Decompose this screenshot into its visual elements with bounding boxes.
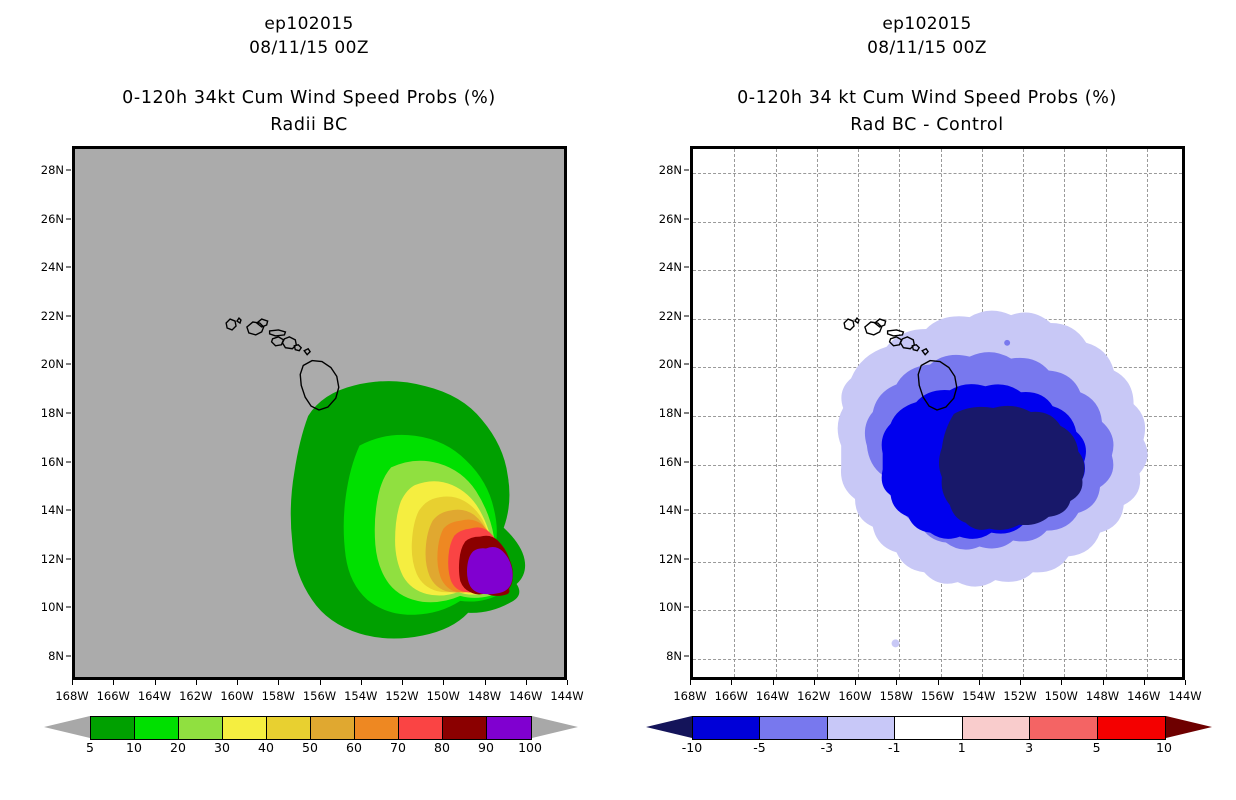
y-axis-tick xyxy=(66,218,71,219)
x-axis-tick xyxy=(485,680,486,685)
x-axis-tick-label: 146W xyxy=(509,689,542,703)
y-axis-tick-label: 8N xyxy=(648,649,682,663)
x-axis-tick-label: 166W xyxy=(97,689,130,703)
colorbar-low-cap xyxy=(646,716,692,738)
x-axis-tick-label: 166W xyxy=(715,689,748,703)
x-axis-tick-label: 144W xyxy=(1168,689,1201,703)
x-axis-tick-label: 164W xyxy=(756,689,789,703)
y-axis-tick xyxy=(66,364,71,365)
y-axis-tick-label: 12N xyxy=(648,552,682,566)
y-axis-tick-label: 28N xyxy=(30,163,64,177)
colorbar-segment xyxy=(693,717,760,739)
y-axis-tick-label: 20N xyxy=(648,357,682,371)
x-axis-tick xyxy=(1103,680,1104,685)
colorbar-probability: 5102030405060708090100 xyxy=(0,716,618,776)
x-axis-tick-label: 168W xyxy=(55,689,88,703)
colorbar-tick-label: 20 xyxy=(170,740,186,755)
colorbar-low-cap xyxy=(44,716,90,738)
x-axis-tick-label: 148W xyxy=(1086,689,1119,703)
y-axis-tick-label: 24N xyxy=(30,260,64,274)
x-axis-tick xyxy=(1144,680,1145,685)
x-axis-tick xyxy=(1185,680,1186,685)
y-axis-tick-label: 22N xyxy=(30,309,64,323)
y-axis-tick-label: 10N xyxy=(30,600,64,614)
y-axis-tick xyxy=(66,315,71,316)
x-axis-tick xyxy=(320,680,321,685)
panel-rad-bc-minus-control: ep102015 08/11/15 00Z 0-120h 34 kt Cum W… xyxy=(618,0,1236,800)
colorbar-segment xyxy=(895,717,962,739)
x-axis-tick xyxy=(814,680,815,685)
x-axis-tick-label: 160W xyxy=(220,689,253,703)
colorbar-probability-ticks: 5102030405060708090100 xyxy=(0,740,618,760)
colorbar-tick-label: -10 xyxy=(682,740,702,755)
x-axis-tick-label: 144W xyxy=(550,689,583,703)
colorbar-difference: -10-5-3-113510 xyxy=(618,716,1236,776)
y-axis-tick xyxy=(66,461,71,462)
y-axis-tick-label: 28N xyxy=(648,163,682,177)
colorbar-segment xyxy=(760,717,827,739)
x-axis-tick xyxy=(855,680,856,685)
colorbar-segment xyxy=(487,717,531,739)
y-axis-tick-label: 16N xyxy=(30,455,64,469)
colorbar-segment xyxy=(399,717,443,739)
y-axis-tick xyxy=(684,607,689,608)
y-axis-tick-label: 12N xyxy=(30,552,64,566)
x-axis-tick xyxy=(443,680,444,685)
x-axis-tick-label: 160W xyxy=(838,689,871,703)
colorbar-segment xyxy=(267,717,311,739)
x-axis-tick xyxy=(72,680,73,685)
x-axis-tick-label: 156W xyxy=(303,689,336,703)
y-axis-tick xyxy=(684,461,689,462)
colorbar-segment xyxy=(1030,717,1097,739)
colorbar-tick-label: 50 xyxy=(302,740,318,755)
x-axis-tick xyxy=(1020,680,1021,685)
y-axis-tick-label: 20N xyxy=(30,357,64,371)
y-axis-tick xyxy=(66,267,71,268)
y-axis-tick xyxy=(684,655,689,656)
y-axis-tick-label: 8N xyxy=(30,649,64,663)
y-axis-tick-label: 26N xyxy=(648,212,682,226)
x-axis-tick xyxy=(196,680,197,685)
colorbar-high-cap xyxy=(532,716,578,738)
x-axis-tick-label: 150W xyxy=(427,689,460,703)
panel-radii-bc: ep102015 08/11/15 00Z 0-120h 34kt Cum Wi… xyxy=(0,0,618,800)
x-axis-tick xyxy=(567,680,568,685)
colorbar-difference-ticks: -10-5-3-113510 xyxy=(618,740,1236,760)
colorbar-difference-bar xyxy=(692,716,1166,740)
y-axis-tick-label: 22N xyxy=(648,309,682,323)
colorbar-tick-label: 10 xyxy=(126,740,142,755)
x-axis-tick xyxy=(237,680,238,685)
x-axis-tick xyxy=(155,680,156,685)
x-axis-tick xyxy=(938,680,939,685)
x-axis-tick-label: 154W xyxy=(344,689,377,703)
colorbar-tick-label: -3 xyxy=(821,740,833,755)
colorbar-tick-label: -1 xyxy=(888,740,900,755)
x-axis-tick-label: 152W xyxy=(385,689,418,703)
x-axis-tick-label: 154W xyxy=(962,689,995,703)
x-axis-tick-label: 162W xyxy=(797,689,830,703)
colorbar-high-cap xyxy=(1166,716,1212,738)
y-axis-tick xyxy=(684,558,689,559)
y-axis-tick xyxy=(684,413,689,414)
colorbar-probability-bar xyxy=(90,716,532,740)
colorbar-tick-label: 3 xyxy=(1025,740,1033,755)
colorbar-tick-label: 70 xyxy=(390,740,406,755)
y-axis-tick xyxy=(684,510,689,511)
colorbar-tick-label: -5 xyxy=(753,740,765,755)
y-axis-tick-label: 16N xyxy=(648,455,682,469)
colorbar-tick-label: 10 xyxy=(1156,740,1172,755)
colorbar-segment xyxy=(355,717,399,739)
x-axis-tick-label: 156W xyxy=(921,689,954,703)
x-axis-tick-label: 168W xyxy=(673,689,706,703)
y-axis-tick-label: 26N xyxy=(30,212,64,226)
colorbar-tick-label: 5 xyxy=(86,740,94,755)
colorbar-tick-label: 90 xyxy=(478,740,494,755)
x-axis-tick xyxy=(402,680,403,685)
colorbar-tick-label: 5 xyxy=(1093,740,1101,755)
y-axis-tick xyxy=(684,218,689,219)
x-axis-tick xyxy=(361,680,362,685)
y-axis-tick xyxy=(66,510,71,511)
x-axis-tick xyxy=(896,680,897,685)
colorbar-tick-label: 80 xyxy=(434,740,450,755)
y-axis-tick xyxy=(66,170,71,171)
colorbar-segment xyxy=(179,717,223,739)
colorbar-segment xyxy=(135,717,179,739)
colorbar-tick-label: 100 xyxy=(518,740,542,755)
y-axis-tick-label: 18N xyxy=(648,406,682,420)
colorbar-segment xyxy=(443,717,487,739)
y-axis-tick xyxy=(684,267,689,268)
colorbar-segment xyxy=(311,717,355,739)
y-axis-tick xyxy=(66,413,71,414)
colorbar-segment xyxy=(828,717,895,739)
colorbar-tick-label: 30 xyxy=(214,740,230,755)
colorbar-segment xyxy=(223,717,267,739)
x-axis-tick-label: 148W xyxy=(468,689,501,703)
x-axis-tick-label: 150W xyxy=(1045,689,1078,703)
x-axis-tick-label: 162W xyxy=(179,689,212,703)
colorbar-tick-label: 40 xyxy=(258,740,274,755)
x-axis-tick xyxy=(979,680,980,685)
x-axis-tick xyxy=(773,680,774,685)
x-axis-tick xyxy=(526,680,527,685)
x-axis-tick-label: 146W xyxy=(1127,689,1160,703)
y-axis-tick-label: 18N xyxy=(30,406,64,420)
x-axis-tick xyxy=(113,680,114,685)
x-axis-tick xyxy=(690,680,691,685)
colorbar-tick-label: 1 xyxy=(958,740,966,755)
colorbar-segment xyxy=(963,717,1030,739)
y-axis-tick xyxy=(684,170,689,171)
x-axis-tick-label: 152W xyxy=(1003,689,1036,703)
y-axis-tick xyxy=(66,655,71,656)
y-axis-tick-label: 14N xyxy=(30,503,64,517)
x-axis-tick-label: 158W xyxy=(262,689,295,703)
x-axis-tick xyxy=(731,680,732,685)
y-axis-tick-label: 14N xyxy=(648,503,682,517)
x-axis-tick-label: 164W xyxy=(138,689,171,703)
y-axis-tick xyxy=(66,558,71,559)
x-axis-tick-label: 158W xyxy=(880,689,913,703)
x-axis-tick xyxy=(1061,680,1062,685)
y-axis-tick-label: 10N xyxy=(648,600,682,614)
colorbar-tick-label: 60 xyxy=(346,740,362,755)
colorbar-segment xyxy=(91,717,135,739)
colorbar-segment xyxy=(1098,717,1165,739)
x-axis-tick xyxy=(278,680,279,685)
y-axis-tick xyxy=(684,315,689,316)
y-axis-tick xyxy=(66,607,71,608)
y-axis-tick-label: 24N xyxy=(648,260,682,274)
y-axis-tick xyxy=(684,364,689,365)
